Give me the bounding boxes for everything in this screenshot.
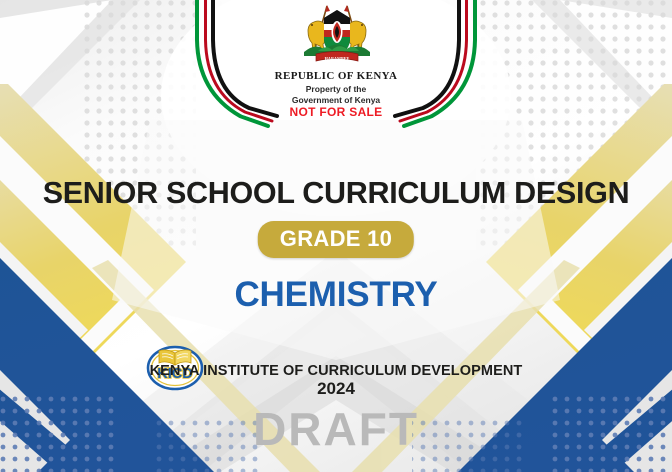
subject-title: CHEMISTRY xyxy=(0,275,672,315)
grade-badge: GRADE 10 xyxy=(258,221,414,258)
publisher-name: KENYA INSTITUTE OF CURRICULUM DEVELOPMEN… xyxy=(0,363,672,379)
property-of-government-line: Property of the Government of Kenya xyxy=(0,84,672,105)
curriculum-cover-page: HARAMBEE REPUBLIC OF KENYA Property of t… xyxy=(0,0,672,472)
publication-year: 2024 xyxy=(0,379,672,399)
draft-watermark: DRAFT xyxy=(0,402,672,456)
kenya-coat-of-arms-icon: HARAMBEE xyxy=(294,2,380,66)
property-line-1: Property of the xyxy=(306,84,366,94)
page-title: SENIOR SCHOOL CURRICULUM DESIGN xyxy=(0,176,672,211)
not-for-sale-label: NOT FOR SALE xyxy=(0,105,672,119)
property-line-2: Government of Kenya xyxy=(292,95,380,105)
svg-text:HARAMBEE: HARAMBEE xyxy=(325,56,350,61)
republic-of-kenya-line: REPUBLIC OF KENYA xyxy=(0,70,672,82)
